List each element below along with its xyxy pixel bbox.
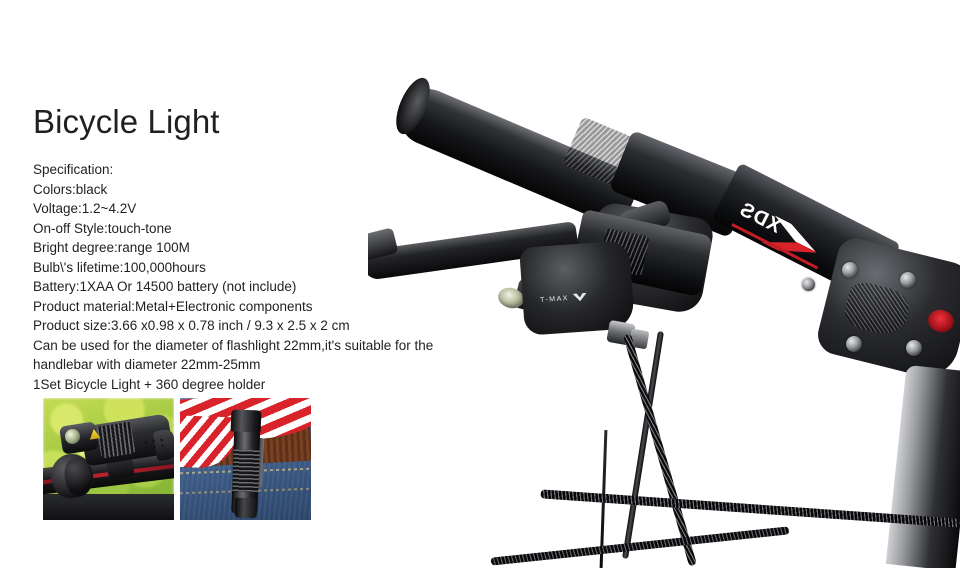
thumbnail-gallery xyxy=(43,398,311,520)
spec-line: Bright degree:range 100M xyxy=(33,238,473,258)
brake-lever-logo-mark-icon xyxy=(573,293,588,302)
spec-line: Specification: xyxy=(33,160,473,180)
thumbnail-flashlight-on-jeans[interactable] xyxy=(180,398,311,520)
spec-line: Product size:3.66 x0.98 x 0.78 inch / 9.… xyxy=(33,316,473,336)
shifter-cable xyxy=(623,334,697,567)
spec-line: Bulb\'s lifetime:100,000hours xyxy=(33,258,473,278)
spec-line: Voltage:1.2~4.2V xyxy=(33,199,473,219)
brake-lever-logo-text: T-MAX xyxy=(540,295,569,304)
light-cooling-fins xyxy=(97,422,136,459)
stem-bolt xyxy=(900,272,916,288)
specification-list: Specification: Colors:black Voltage:1.2~… xyxy=(33,160,473,394)
bike-frame-foreground xyxy=(43,494,174,520)
spec-line: Can be used for the diameter of flashlig… xyxy=(33,336,463,375)
stem-bolt xyxy=(906,340,922,356)
flashlight-head xyxy=(231,409,262,432)
spec-line: Colors:black xyxy=(33,180,473,200)
thumbnail-light-on-handlebar[interactable] xyxy=(43,398,174,520)
fork-steerer-tube xyxy=(886,365,960,568)
braided-cable-bottom xyxy=(490,526,789,565)
page-title: Bicycle Light xyxy=(33,100,473,144)
spec-line: Product material:Metal+Electronic compon… xyxy=(33,297,473,317)
stem-bolt xyxy=(842,262,858,278)
stem-bolt xyxy=(846,336,862,352)
product-detail-page: XDS T-MAX xyxy=(0,0,960,568)
spec-line: Battery:1XAA Or 14500 battery (not inclu… xyxy=(33,277,473,297)
spec-line: 1Set Bicycle Light + 360 degree holder xyxy=(33,375,473,395)
stem-bolt xyxy=(802,278,815,291)
product-info-column: Bicycle Light Specification: Colors:blac… xyxy=(33,100,473,394)
flashlight-tail-cap xyxy=(235,498,258,519)
spec-line: On-off Style:touch-tone xyxy=(33,219,473,239)
flashlight-knurling xyxy=(232,450,259,493)
